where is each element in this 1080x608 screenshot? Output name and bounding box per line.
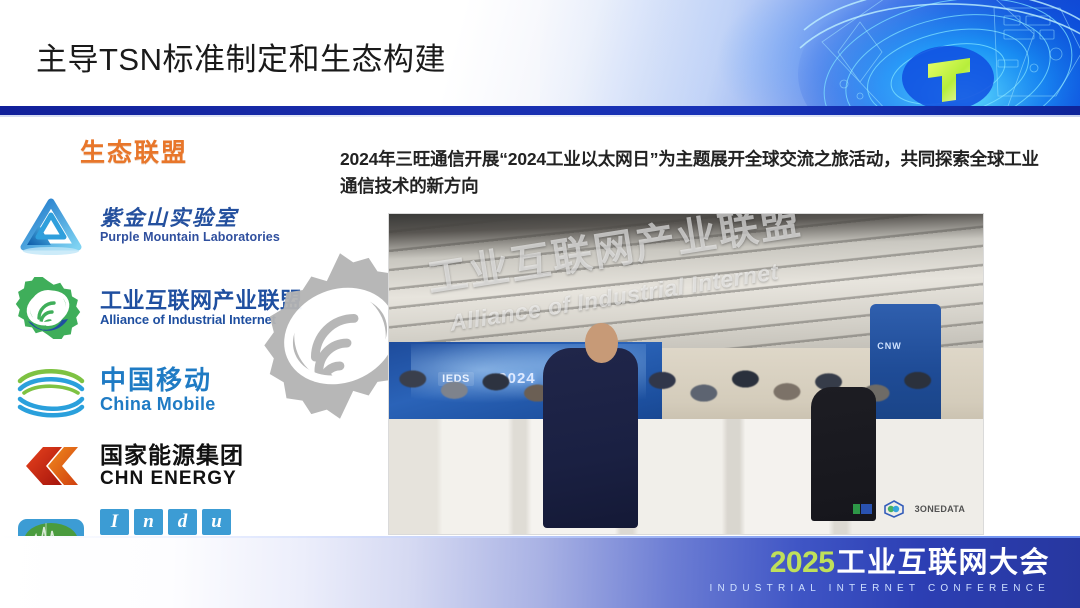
indusol-letter: n (134, 509, 163, 535)
conference-logo-main: 2025 工业互联网大会 (770, 548, 1050, 578)
footer-top-line (0, 536, 1080, 538)
slide-root: 主导TSN标准制定和生态构建 生态联盟 2024年三旺通信开展“2024工业以太… (0, 0, 1080, 608)
partner-name-cn: 工业互联网产业联盟 (100, 290, 303, 312)
partner-logo-purple-mountain-laboratories: 紫金山实验室 Purple Mountain Laboratories (12, 190, 280, 262)
slide-footer: 2025 工业互联网大会 INDUSTRIAL INTERNET CONFERE… (0, 536, 1080, 608)
partner-logo-china-mobile: 中国移动 China Mobile (12, 354, 280, 426)
page-title: 主导TSN标准制定和生态构建 (36, 34, 446, 79)
partner-name-cn: 中国移动 (100, 367, 216, 394)
slide-header: 主导TSN标准制定和生态构建 (0, 0, 1080, 106)
header-divider (0, 106, 1080, 115)
photo-foreground-person (543, 348, 638, 527)
partner-logo-chn-energy: 国家能源集团 CHN ENERGY (12, 430, 280, 502)
body-description: 2024年三旺通信开展“2024工业以太网日”为主题展开全球交流之旅活动，共同探… (340, 146, 1052, 200)
conference-name-en: INDUSTRIAL INTERNET CONFERENCE (710, 583, 1050, 594)
indusol-letter: u (202, 509, 231, 535)
conference-year: 2025 (770, 548, 835, 578)
partner-logo-alliance-of-industrial-internet: 工业互联网产业联盟 Alliance of Industrial Interne… (12, 272, 280, 344)
partner-name-en: CHN ENERGY (100, 469, 244, 488)
sponsor-hex-icon (883, 500, 905, 518)
photo-sponsor-logos: 3ONEDATA (853, 500, 966, 518)
partner-name-en: Alliance of Industrial Internet (100, 313, 303, 326)
sponsor-name: 3ONEDATA (915, 504, 966, 514)
partner-name-en: China Mobile (100, 395, 216, 413)
header-divider-highlight (0, 115, 1080, 117)
conference-photo: IEDS 2024 CNW 3ONEDATA 工业互联网产业联盟 Allianc… (388, 213, 984, 535)
gear-wifi-logo-icon (12, 277, 90, 339)
indusol-letter: I (100, 509, 129, 535)
indusol-wordmark-row1: I n d u (100, 509, 280, 535)
conference-logo: 2025 工业互联网大会 INDUSTRIAL INTERNET CONFERE… (710, 548, 1050, 594)
sponsor-mark-icon (853, 502, 873, 516)
partner-logo-list: 紫金山实验室 Purple Mountain Laboratories (12, 190, 280, 580)
diamond-logo-icon (12, 435, 90, 497)
partner-name-en: Purple Mountain Laboratories (100, 231, 280, 244)
partner-name-cn: 紫金山实验室 (100, 208, 280, 229)
tech-globe-icon (798, 0, 1080, 106)
header-sheen (540, 0, 1080, 106)
indusol-letter: d (168, 509, 197, 535)
conference-name-cn: 工业互联网大会 (836, 549, 1050, 578)
triangle-logo-icon (12, 195, 90, 257)
partner-name-cn: 国家能源集团 (100, 444, 244, 467)
section-title: 生态联盟 (80, 133, 188, 169)
wave-logo-icon (12, 359, 90, 421)
